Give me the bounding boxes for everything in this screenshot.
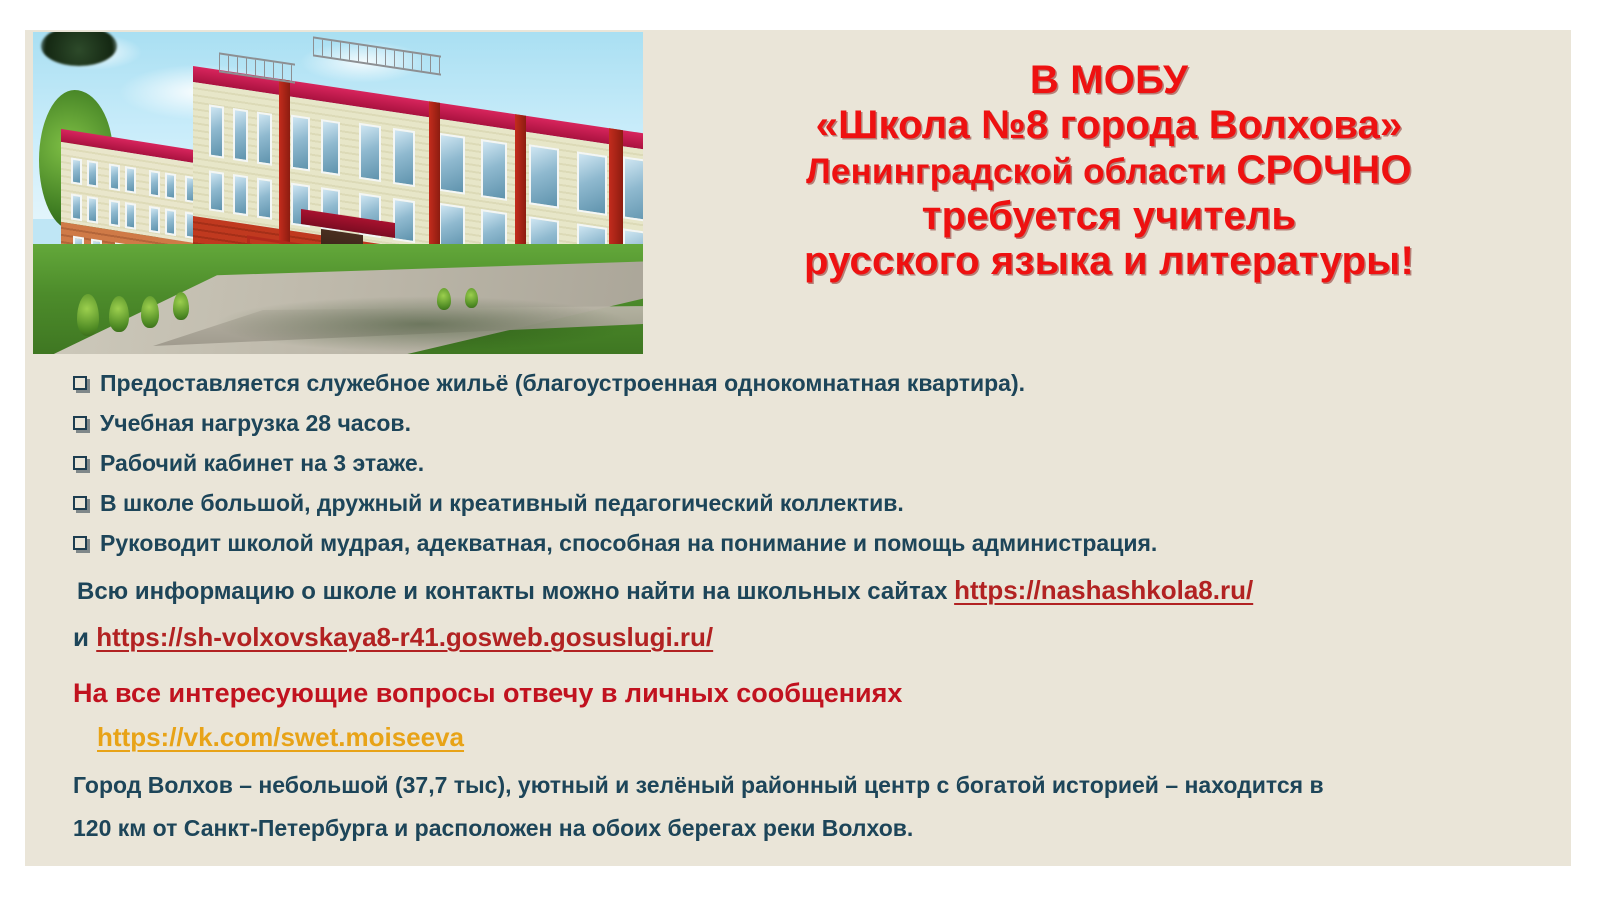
list-item-label: Рабочий кабинет на 3 этаже. <box>100 450 424 477</box>
vk-profile-link[interactable]: https://vk.com/swet.moiseeva <box>97 722 464 752</box>
list-item: В школе большой, дружный и креативный пе… <box>73 490 904 517</box>
school-building-photo <box>33 32 643 354</box>
list-item: Рабочий кабинет на 3 этаже. <box>73 450 424 477</box>
list-item-label: В школе большой, дружный и креативный пе… <box>100 490 904 517</box>
list-item-label: Учебная нагрузка 28 часов. <box>100 410 411 437</box>
square-bullet-icon <box>73 496 87 510</box>
shrub <box>173 292 189 320</box>
headline-line-2: «Школа №8 города Волхова» <box>653 103 1565 148</box>
list-item: Предоставляется служебное жильё (благоус… <box>73 370 1025 397</box>
square-bullet-icon <box>73 456 87 470</box>
headline-region: Ленинградской области <box>806 152 1226 191</box>
shrub <box>465 288 478 308</box>
vk-profile-link-wrap: https://vk.com/swet.moiseeva <box>97 722 464 753</box>
list-item: Руководит школой мудрая, адекватная, спо… <box>73 530 1157 557</box>
info-line: Всю информацию о школе и контакты можно … <box>77 575 1253 606</box>
headline-line-3: Ленинградской области СРОЧНО <box>653 148 1565 193</box>
shrub <box>77 294 99 336</box>
headline-line-1: В МОБУ <box>653 58 1565 103</box>
shrub <box>437 288 451 310</box>
school-site-link-1[interactable]: https://nashashkola8.ru/ <box>954 575 1253 605</box>
square-bullet-icon <box>73 416 87 430</box>
headline-line-5: русского языка и литературы! <box>653 239 1565 284</box>
list-item-label: Руководит школой мудрая, адекватная, спо… <box>100 530 1157 557</box>
list-item: Учебная нагрузка 28 часов. <box>73 410 411 437</box>
info-line-2: и https://sh-volxovskaya8-r41.gosweb.gos… <box>73 622 713 653</box>
poster-panel: В МОБУ «Школа №8 города Волхова» Ленингр… <box>25 30 1571 866</box>
school-site-link-2[interactable]: https://sh-volxovskaya8-r41.gosweb.gosus… <box>96 622 713 652</box>
contact-line: На все интересующие вопросы отвечу в лич… <box>73 678 902 709</box>
square-bullet-icon <box>73 376 87 390</box>
about-town-line-1: Город Волхов – небольшой (37,7 тыс), уют… <box>73 772 1324 799</box>
info-line-text: Всю информацию о школе и контакты можно … <box>77 578 947 605</box>
headline-urgent: СРОЧНО <box>1236 148 1411 192</box>
shrub <box>109 296 129 332</box>
square-bullet-icon <box>73 536 87 550</box>
headline: В МОБУ «Школа №8 города Волхова» Ленингр… <box>653 58 1565 284</box>
lawn-shadow <box>213 296 633 352</box>
headline-line-4: требуется учитель <box>653 194 1565 239</box>
shrub <box>141 296 159 328</box>
list-item-label: Предоставляется служебное жильё (благоус… <box>100 370 1025 397</box>
about-town-line-2: 120 км от Санкт-Петербурга и расположен … <box>73 815 913 842</box>
conjunction-label: и <box>73 622 89 652</box>
